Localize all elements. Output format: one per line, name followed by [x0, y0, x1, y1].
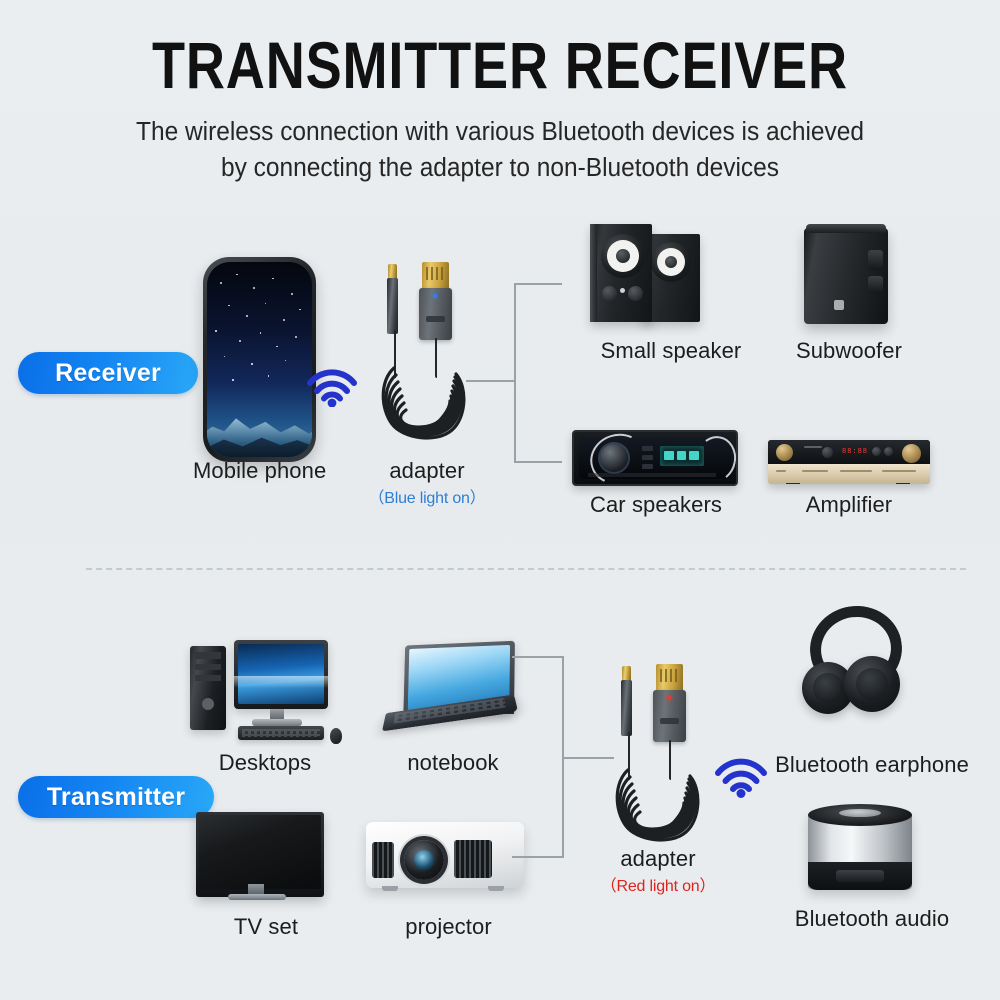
receiver-adapter-label: adapter — [367, 458, 487, 484]
receiver-badge-label: Receiver — [55, 359, 161, 388]
transmitter-badge[interactable]: Transmitter — [18, 776, 214, 818]
mobile-phone-label: Mobile phone — [193, 458, 318, 484]
bluetooth-audio-label: Bluetooth audio — [772, 906, 972, 932]
car-speakers-label: Car speakers — [572, 492, 740, 518]
wifi-icon — [714, 752, 768, 798]
header: TRANSMITTER RECEIVER The wireless connec… — [0, 0, 1000, 186]
subtitle-line-2: by connecting the adapter to non-Bluetoo… — [20, 150, 980, 186]
subwoofer-icon — [800, 222, 896, 326]
transmitter-badge-label: Transmitter — [47, 783, 185, 812]
section-divider — [86, 568, 966, 570]
mobile-phone-icon — [203, 257, 316, 462]
projector-label: projector — [366, 914, 531, 940]
small-speaker-label: Small speaker — [590, 338, 752, 364]
amplifier-icon: 88:88 — [768, 440, 930, 484]
desktops-label: Desktops — [190, 750, 340, 776]
wifi-icon — [306, 363, 358, 407]
bluetooth-speaker-icon — [808, 804, 918, 896]
transmitter-adapter-note: （Red light on） — [598, 872, 718, 896]
car-stereo-icon — [572, 430, 738, 486]
desktop-computer-icon — [190, 640, 340, 740]
laptop-icon — [378, 640, 528, 740]
projector-icon — [366, 812, 531, 902]
receiver-adapter-note: （Blue light on） — [367, 484, 487, 508]
subtitle-line-1: The wireless connection with various Blu… — [20, 114, 980, 150]
small-speaker-icon — [590, 224, 730, 324]
headphones-icon — [800, 606, 912, 720]
transmitter-adapter-icon — [608, 664, 718, 854]
television-icon — [196, 812, 336, 902]
notebook-label: notebook — [378, 750, 528, 776]
page-subtitle: The wireless connection with various Blu… — [20, 114, 980, 186]
bluetooth-earphone-label: Bluetooth earphone — [772, 752, 972, 778]
receiver-adapter-icon — [372, 262, 482, 452]
transmitter-adapter-label: adapter — [598, 846, 718, 872]
tv-set-label: TV set — [196, 914, 336, 940]
receiver-badge[interactable]: Receiver — [18, 352, 198, 394]
subwoofer-label: Subwoofer — [786, 338, 912, 364]
page-title: TRANSMITTER RECEIVER — [90, 32, 910, 98]
infographic-canvas: TRANSMITTER RECEIVER The wireless connec… — [0, 0, 1000, 1000]
amplifier-label: Amplifier — [768, 492, 930, 518]
